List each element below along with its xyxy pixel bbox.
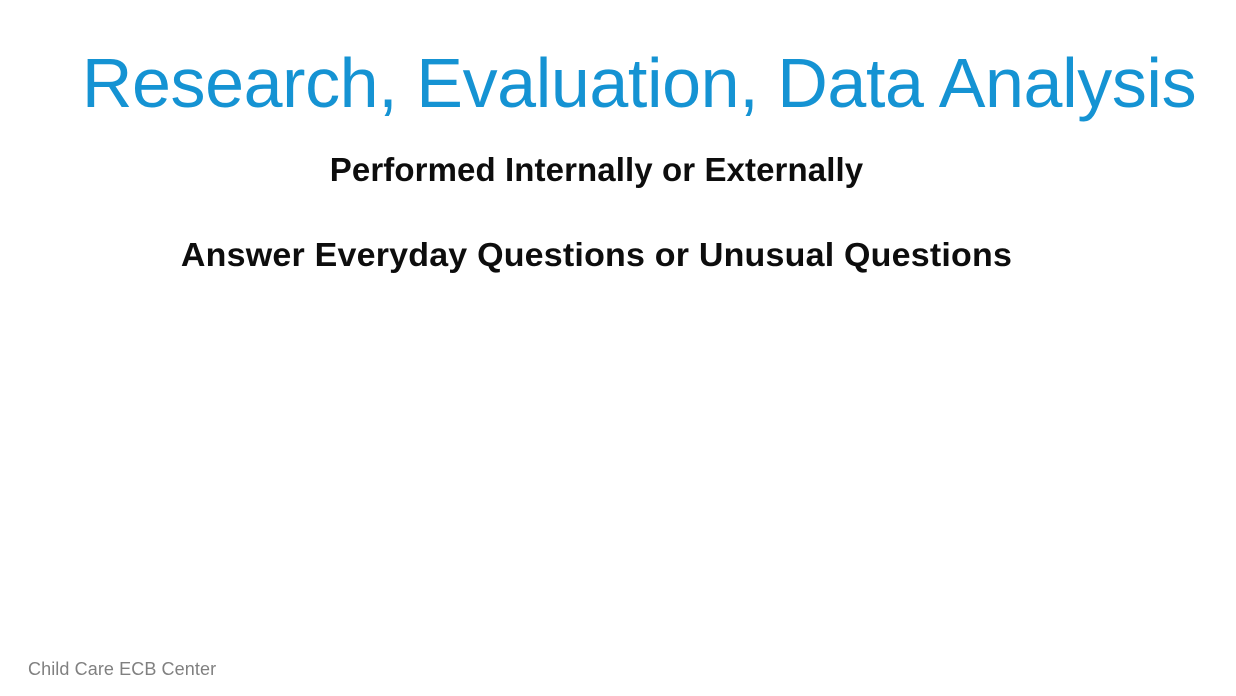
slide-footer-text: Child Care ECB Center: [28, 658, 216, 680]
slide-title-block: Research, Evaluation, Data Analysis: [0, 46, 1236, 122]
slide-title: Research, Evaluation, Data Analysis: [0, 46, 1236, 122]
presentation-slide: Research, Evaluation, Data Analysis Perf…: [0, 0, 1236, 696]
slide-body-block: Performed Internally or Externally Answe…: [0, 148, 1193, 277]
slide-body-line-2: Answer Everyday Questions or Unusual Que…: [0, 233, 1211, 277]
slide-body-spacer: [0, 192, 1193, 233]
slide-body-line-1: Performed Internally or Externally: [0, 148, 1193, 192]
